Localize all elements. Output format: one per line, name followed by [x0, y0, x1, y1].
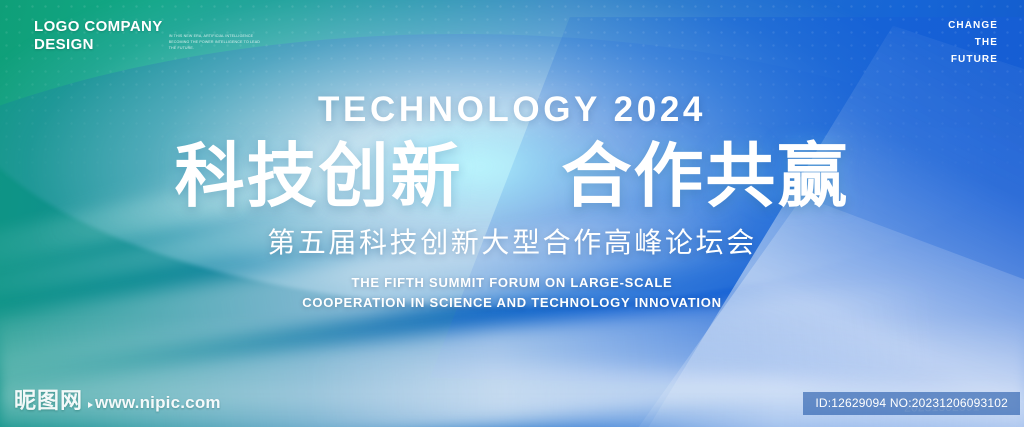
corner-slogan: CHANGE THE FUTURE	[948, 17, 998, 69]
headline-chinese-subtitle: 第五届科技创新大型合作高峰论坛会	[0, 229, 1024, 257]
watermark-site-name: 昵图网	[14, 383, 83, 415]
headline-chinese-right: 合作共赢	[561, 135, 849, 217]
logo-fineprint: IN THIS NEW ERA, ARTIFICIAL INTELLIGENCE…	[169, 34, 265, 51]
logo-line-2: DESIGN	[34, 36, 163, 54]
headline-english-subtitle: THE FIFTH SUMMIT FORUM ON LARGE-SCALE CO…	[0, 273, 1024, 313]
headline-chinese-left: 科技创新	[175, 135, 463, 217]
corner-slogan-line-1: CHANGE	[948, 17, 998, 34]
banner-content: LOGO COMPANY DESIGN IN THIS NEW ERA, ART…	[0, 0, 1024, 427]
headline-eyebrow: TECHNOLOGY 2024	[0, 92, 1024, 127]
headline-english-line-1: THE FIFTH SUMMIT FORUM ON LARGE-SCALE	[0, 273, 1024, 293]
corner-slogan-line-2: THE	[948, 34, 998, 51]
watermark-site-url: www.nipic.com	[88, 393, 221, 413]
headline-stack: TECHNOLOGY 2024 科技创新 合作共赢 第五届科技创新大型合作高峰论…	[0, 92, 1024, 313]
corner-slogan-line-3: FUTURE	[948, 51, 998, 68]
watermark-left: 昵图网 www.nipic.com	[14, 383, 221, 415]
headline-english-line-2: COOPERATION IN SCIENCE AND TECHNOLOGY IN…	[0, 293, 1024, 313]
play-triangle-icon	[88, 402, 93, 408]
headline-chinese-main: 科技创新 合作共赢	[0, 141, 1024, 211]
logo-line-1: LOGO COMPANY	[34, 18, 163, 35]
watermark-url-text: www.nipic.com	[95, 393, 221, 412]
banner-canvas: LOGO COMPANY DESIGN IN THIS NEW ERA, ART…	[0, 0, 1024, 427]
logo-wordmark: LOGO COMPANY DESIGN	[34, 18, 163, 55]
watermark-id-badge: ID:12629094 NO:20231206093102	[803, 392, 1020, 415]
logo-block: LOGO COMPANY DESIGN IN THIS NEW ERA, ART…	[34, 18, 265, 55]
